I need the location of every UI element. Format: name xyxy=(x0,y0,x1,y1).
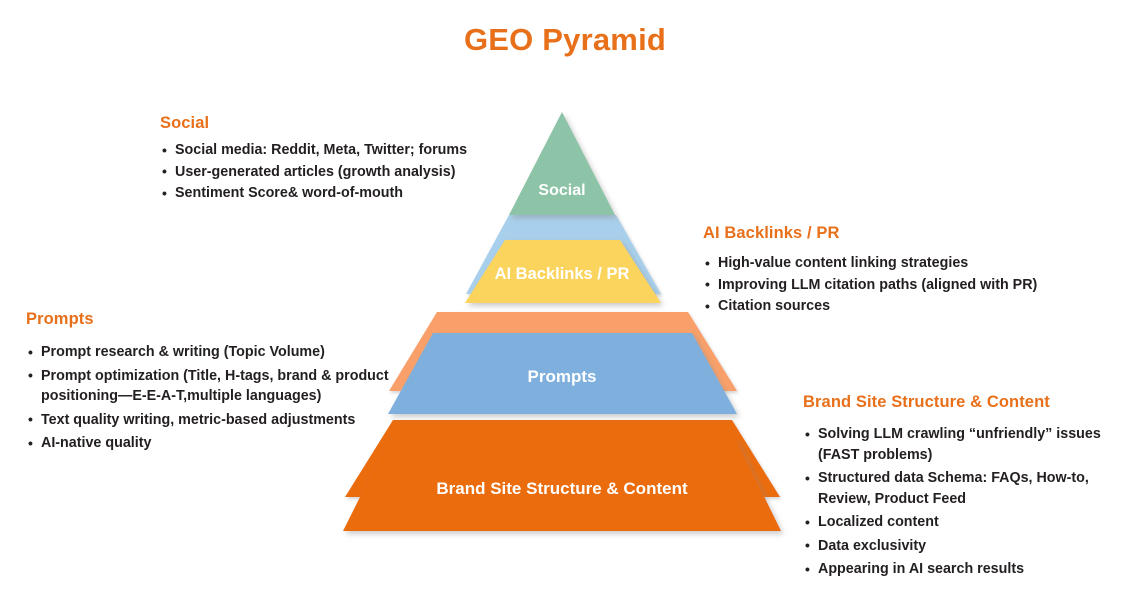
pyramid-layer-social[interactable]: Social xyxy=(509,112,615,215)
callout-brand-site-structure-content-bullet: Appearing in AI search results xyxy=(803,559,1108,580)
pyramid-face-prompts[interactable] xyxy=(388,333,737,414)
callout-brand-site-structure-content-bullet: Localized content xyxy=(803,512,1108,533)
callout-brand-site-structure-content-bullet: Structured data Schema: FAQs, How-to, Re… xyxy=(803,468,1108,509)
pyramid-layer-prompts[interactable]: Prompts xyxy=(388,312,737,414)
callout-ai-backlinks-pr: AI Backlinks / PR High-value content lin… xyxy=(703,224,1103,318)
callout-social-bullet: Social media: Reddit, Meta, Twitter; for… xyxy=(160,140,500,161)
pyramid-layer-ai-backlinks-pr[interactable]: AI Backlinks / PR xyxy=(465,215,661,303)
callout-prompts-list: Prompt research & writing (Topic Volume)… xyxy=(26,342,406,454)
slide-canvas: GEO Pyramid Brand Site Structure & Conte… xyxy=(0,0,1130,600)
callout-prompts-bullet: AI-native quality xyxy=(26,433,406,454)
callout-prompts-bullet: Text quality writing, metric-based adjus… xyxy=(26,410,406,431)
callout-brand-site-structure-content-bullet: Solving LLM crawling “unfriendly” issues… xyxy=(803,424,1108,465)
pyramid-layer-brand-site-structure-content[interactable]: Brand Site Structure & Content xyxy=(343,420,781,531)
pyramid-face-brand[interactable] xyxy=(343,441,781,531)
callout-ai-backlinks-pr-bullet: Improving LLM citation paths (aligned wi… xyxy=(703,275,1103,296)
callout-prompts-bullet: Prompt research & writing (Topic Volume) xyxy=(26,342,406,363)
pyramid-face-social[interactable] xyxy=(509,112,615,215)
callout-brand-site-structure-content-list: Solving LLM crawling “unfriendly” issues… xyxy=(803,424,1108,580)
callout-brand-site-structure-content-bullet: Data exclusivity xyxy=(803,536,1108,557)
callout-social-list: Social media: Reddit, Meta, Twitter; for… xyxy=(160,140,500,204)
callout-ai-backlinks-pr-list: High-value content linking strategies Im… xyxy=(703,253,1103,317)
callout-ai-backlinks-pr-bullet: Citation sources xyxy=(703,296,1103,317)
callout-prompts: Prompts Prompt research & writing (Topic… xyxy=(26,310,406,457)
callout-ai-backlinks-pr-bullet: High-value content linking strategies xyxy=(703,253,1103,274)
page-title: GEO Pyramid xyxy=(0,22,1130,58)
callout-social: Social Social media: Reddit, Meta, Twitt… xyxy=(160,114,500,205)
callout-brand-site-structure-content-heading: Brand Site Structure & Content xyxy=(803,393,1108,412)
callout-social-bullet: Sentiment Score& word-of-mouth xyxy=(160,183,500,204)
callout-prompts-heading: Prompts xyxy=(26,310,406,329)
callout-prompts-bullet: Prompt optimization (Title, H-tags, bran… xyxy=(26,366,406,407)
callout-brand-site-structure-content: Brand Site Structure & Content Solving L… xyxy=(803,393,1108,583)
callout-social-heading: Social xyxy=(160,114,500,133)
callout-social-bullet: User-generated articles (growth analysis… xyxy=(160,162,500,183)
callout-ai-backlinks-pr-heading: AI Backlinks / PR xyxy=(703,224,1103,243)
